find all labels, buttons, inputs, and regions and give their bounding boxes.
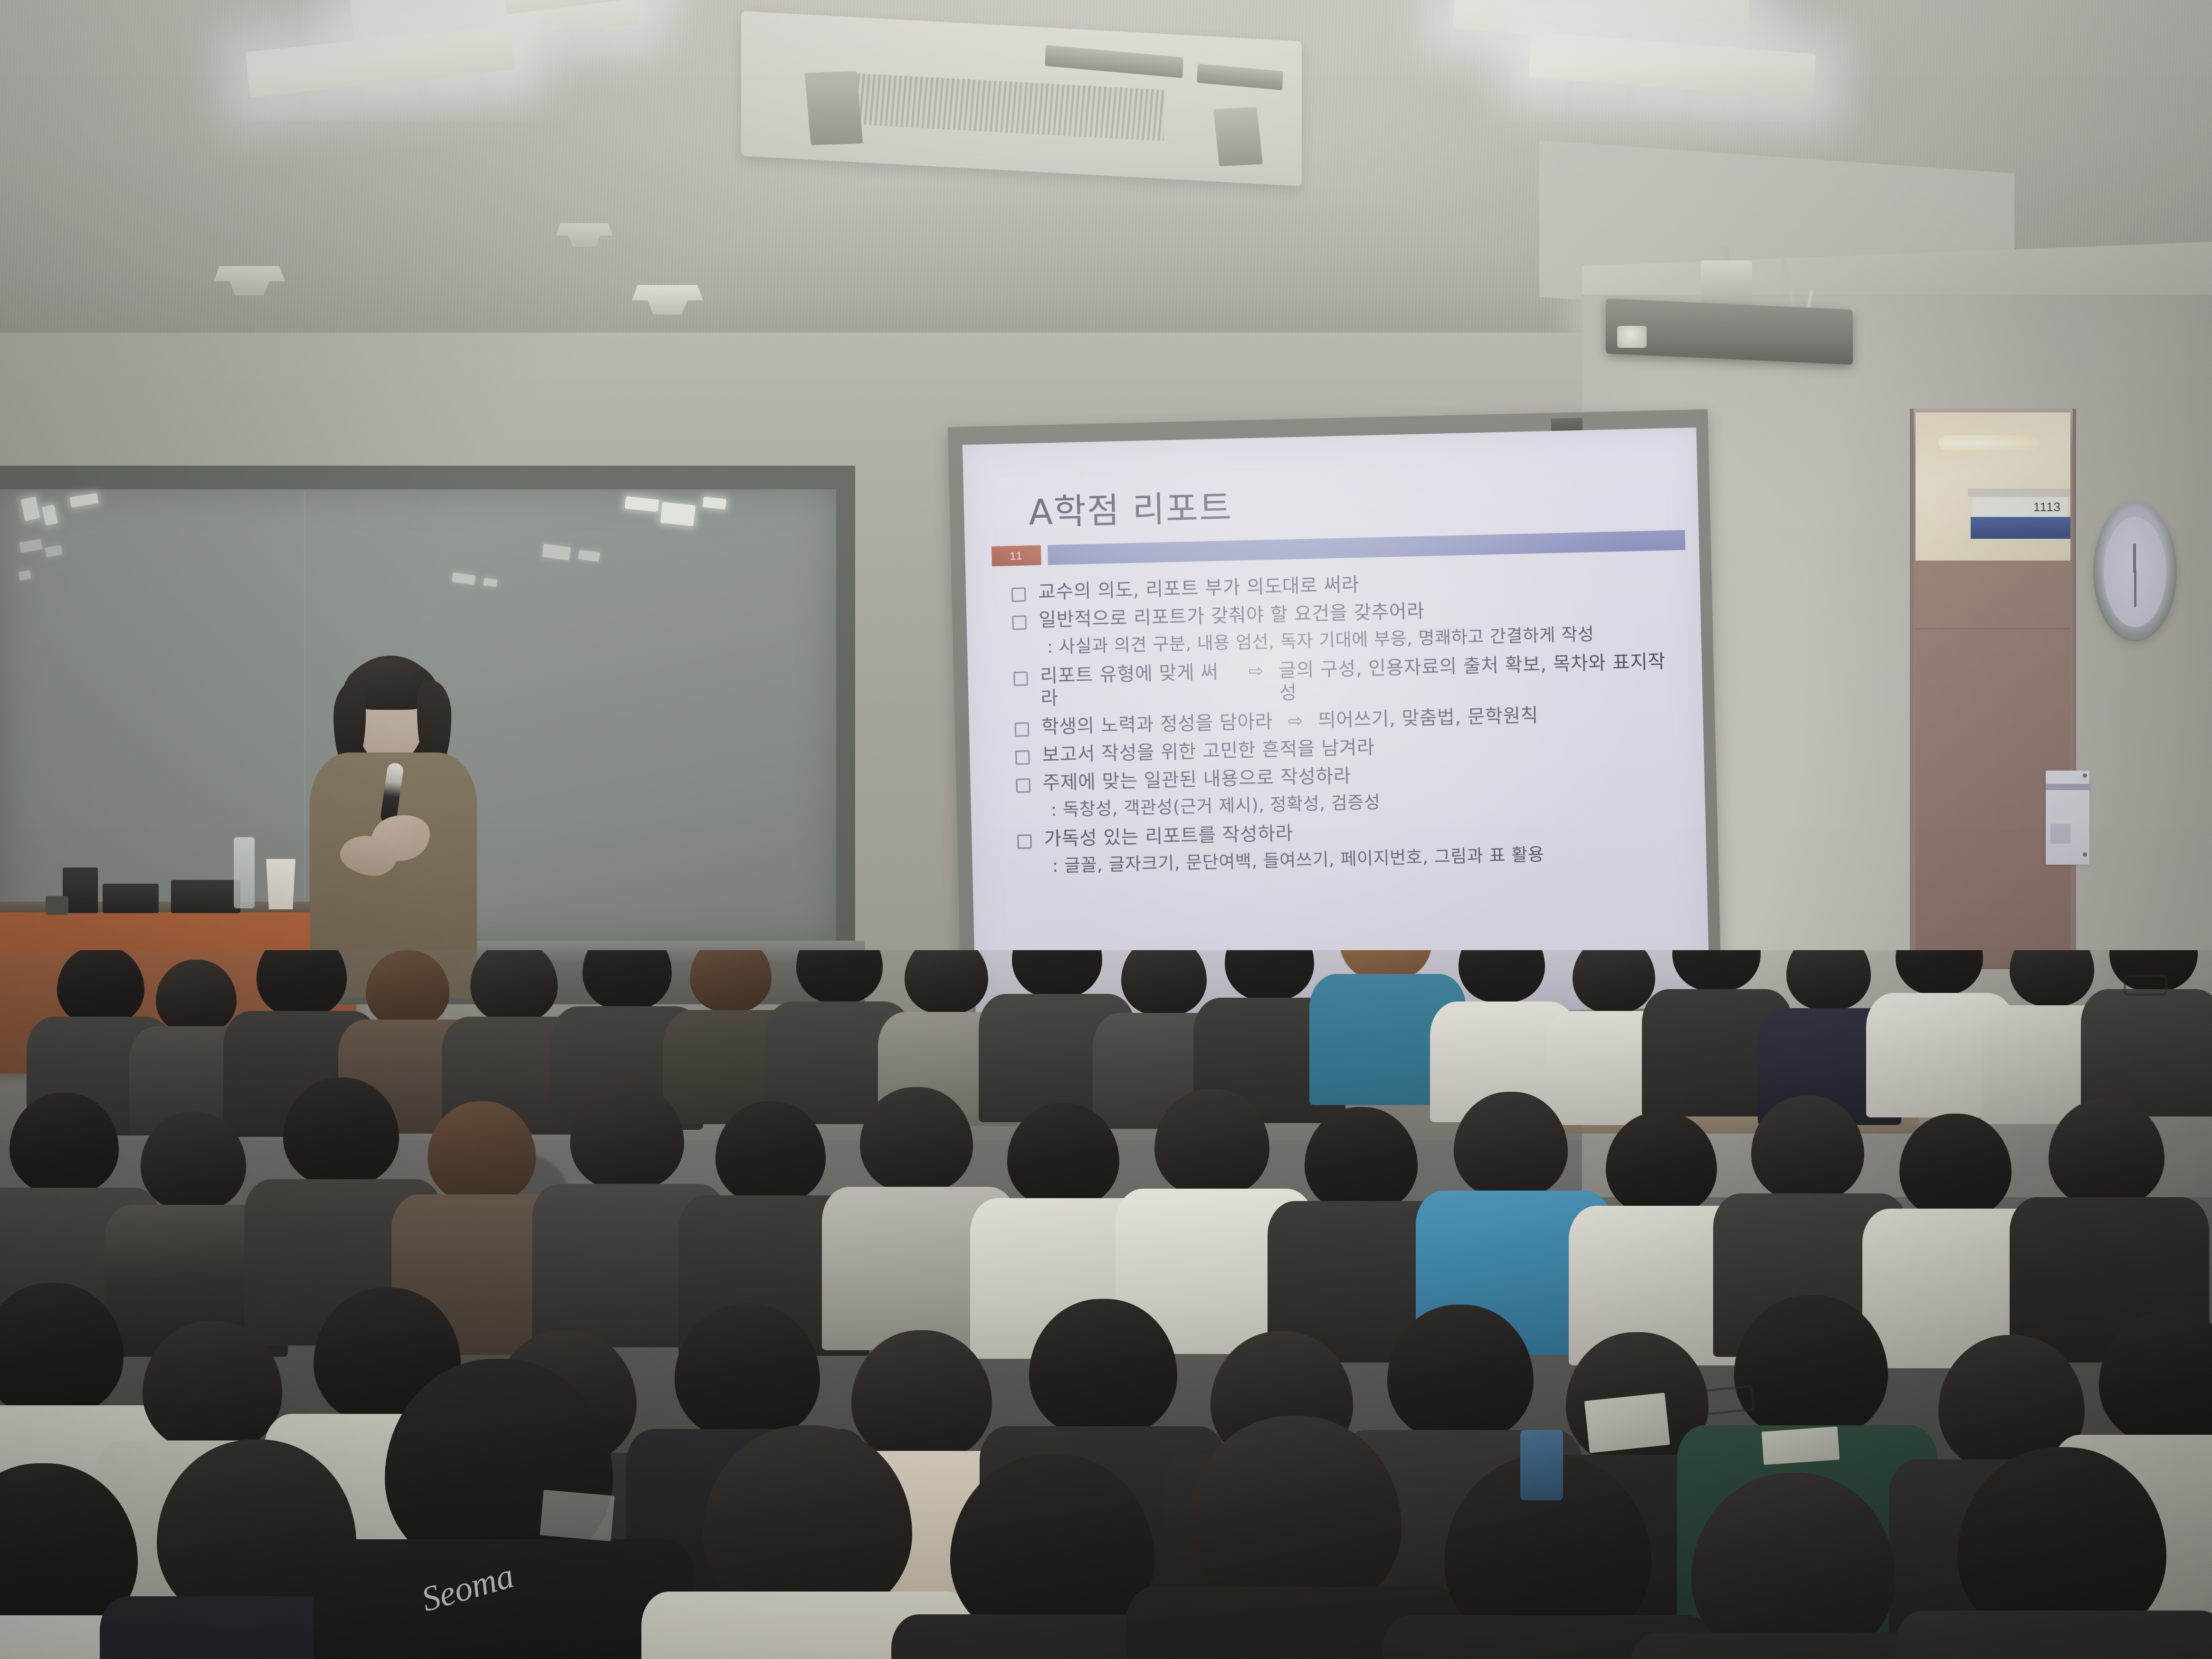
audience-head — [1573, 950, 1655, 1013]
presentation-slide: A학점 리포트 11 교수의 의도, 리포트 부가 의도대로 써라 일반적으로 … — [963, 428, 1710, 1024]
audience-head — [715, 1101, 826, 1204]
ac-vane — [1197, 64, 1283, 90]
notice-pin — [2083, 773, 2087, 778]
slide-divider: 11 — [992, 530, 1686, 566]
light-reflection — [42, 505, 58, 526]
audience-head — [1305, 1107, 1418, 1212]
slide-bullet: 가독성 있는 리포트를 작성하라 : 글꼴, 글자크기, 문단여백, 들여쓰기,… — [1017, 813, 1682, 877]
bullet-text: 교수의 의도, 리포트 부가 의도대로 써라 — [1038, 574, 1360, 604]
water-bottle — [234, 837, 255, 908]
bullet-checkbox-icon — [1017, 834, 1032, 849]
ac-vane — [1045, 45, 1183, 78]
light-reflection — [452, 572, 476, 585]
corridor-light — [1938, 435, 2038, 450]
lectern-equipment — [103, 884, 159, 913]
slide-accent-bar — [1048, 530, 1686, 565]
light-reflection — [625, 496, 659, 512]
light-reflection — [19, 570, 31, 581]
audience-head — [690, 950, 772, 1012]
slide-bullet: 일반적으로 리포트가 갖춰야 할 요건을 갖추어라 : 사실과 의견 구분, 내… — [1012, 594, 1677, 658]
audience: Seoma — [0, 950, 2212, 1659]
corridor-shelf — [1968, 488, 2070, 497]
audience-head — [582, 950, 672, 1010]
shirt-collar — [1762, 1427, 1840, 1465]
notice-pin — [2083, 852, 2087, 857]
bullet-checkbox-icon — [1016, 778, 1030, 793]
bullet-text: 보고서 작성을 위한 고민한 흔적을 남겨라 — [1042, 736, 1375, 767]
audience-head — [1786, 950, 1871, 1010]
audience-head — [570, 1084, 684, 1190]
light-reflection — [703, 497, 726, 510]
audience-body — [2081, 989, 2212, 1116]
notebook-page — [540, 1490, 615, 1542]
light-reflection — [21, 496, 40, 521]
audience-head — [675, 1304, 820, 1440]
audience-head — [905, 950, 988, 1014]
bullet-text: 일반적으로 리포트가 갖춰야 할 요건을 갖추어라 — [1039, 601, 1425, 632]
presenter — [299, 656, 499, 998]
projector-lens — [1617, 326, 1647, 348]
light-reflection — [70, 493, 99, 508]
right-arrow-icon: ⇨ — [1285, 710, 1306, 732]
audience-head — [1606, 1112, 1717, 1215]
slide-bullet-list: 교수의 의도, 리포트 부가 의도대로 써라 일반적으로 리포트가 갖춰야 할 … — [1011, 566, 1682, 877]
audience-head — [283, 1077, 399, 1186]
bullet-checkbox-icon — [1011, 587, 1026, 602]
bullet-text: 리포트 유형에 맞게 써라 — [1040, 661, 1234, 710]
clock-minute-hand — [2134, 568, 2136, 607]
slide-bullet: 리포트 유형에 맞게 써라 ⇨ 글의 구성, 인용자료의 출처 확보, 목차와 … — [1013, 650, 1678, 711]
audience-head — [851, 1330, 992, 1461]
audience-head — [1751, 1096, 1864, 1201]
ac-vane — [1213, 107, 1263, 166]
audience-head — [156, 960, 237, 1034]
smartphone[interactable] — [1520, 1430, 1563, 1500]
bullet-checkbox-icon — [1013, 672, 1028, 686]
audience-head — [1121, 950, 1207, 1016]
audience-head — [860, 1087, 973, 1192]
bullet-text: 학생의 노력과 정성을 담아라 — [1041, 711, 1273, 739]
audience-head — [1029, 1299, 1177, 1437]
audience-head — [143, 1321, 282, 1451]
eyeglasses — [1702, 1385, 1755, 1416]
room-number-sign: 1113 — [1973, 497, 2068, 517]
corridor-blue-panel — [1971, 517, 2070, 539]
audience-head — [1007, 1103, 1119, 1208]
lecture-hall-photo: 1113 — [0, 0, 2212, 1659]
audience-head — [470, 950, 558, 1022]
bullet-checkbox-icon — [1015, 722, 1030, 737]
light-reflection — [578, 550, 600, 562]
door-panel[interactable] — [1916, 562, 2070, 969]
slide-number-badge: 11 — [992, 545, 1041, 566]
bullet-after-text: 띄어쓰기, 맞춤법, 문학원칙 — [1318, 705, 1538, 732]
audience-head — [57, 950, 144, 1025]
audience-head — [1387, 1305, 1534, 1441]
audience-head — [428, 1101, 536, 1203]
transom-window: 1113 — [1916, 412, 2070, 561]
notebook-page — [1584, 1392, 1670, 1453]
light-reflection — [660, 502, 696, 526]
room-number-text: 1113 — [2033, 500, 2061, 515]
slide-title: A학점 리포트 — [1028, 469, 1674, 535]
right-arrow-icon: ⇨ — [1245, 660, 1267, 682]
light-reflection — [19, 539, 42, 553]
light-reflection — [45, 545, 63, 557]
lectern-equipment — [171, 880, 240, 913]
bullet-checkbox-icon — [1012, 615, 1027, 630]
lectern-equipment — [46, 896, 68, 915]
notice-body-block — [2050, 824, 2070, 844]
paper-cup — [264, 859, 297, 909]
audience-head — [141, 1112, 246, 1211]
ac-grille — [831, 72, 1164, 141]
audience-head — [1899, 1114, 2012, 1218]
audience-head — [366, 950, 449, 1027]
wall-notice-poster — [2046, 771, 2089, 865]
projection-screen: A학점 리포트 11 교수의 의도, 리포트 부가 의도대로 써라 일반적으로 … — [963, 428, 1710, 1024]
audience-head — [2049, 1098, 2164, 1207]
slide-bullet: 주제에 맞는 일관된 내용으로 작성하라 : 독창성, 객관성(근거 제시), … — [1016, 757, 1680, 821]
audience-head — [1454, 1092, 1568, 1198]
ac-vane — [805, 71, 863, 145]
clock-face — [2104, 517, 2166, 627]
light-reflection — [542, 544, 571, 561]
bullet-text: 가독성 있는 리포트를 작성하라 — [1044, 822, 1294, 851]
eyeglasses — [2124, 975, 2167, 996]
audience-head — [10, 1093, 119, 1194]
audience-head — [1154, 1089, 1269, 1196]
ceiling-air-conditioner — [741, 11, 1302, 186]
light-reflection — [483, 578, 497, 587]
bullet-text: 주제에 맞는 일관된 내용으로 작성하라 — [1042, 765, 1352, 794]
notice-heading-bar — [2046, 784, 2089, 790]
audience-head — [257, 950, 347, 1017]
bullet-after-text: 글의 구성, 인용자료의 출처 확보, 목차와 표지작성 — [1278, 650, 1678, 705]
audience-body-foreground — [1896, 1611, 2212, 1659]
wall-clock — [2093, 503, 2177, 641]
bullet-checkbox-icon — [1015, 750, 1030, 765]
audience-head — [2010, 950, 2094, 1006]
